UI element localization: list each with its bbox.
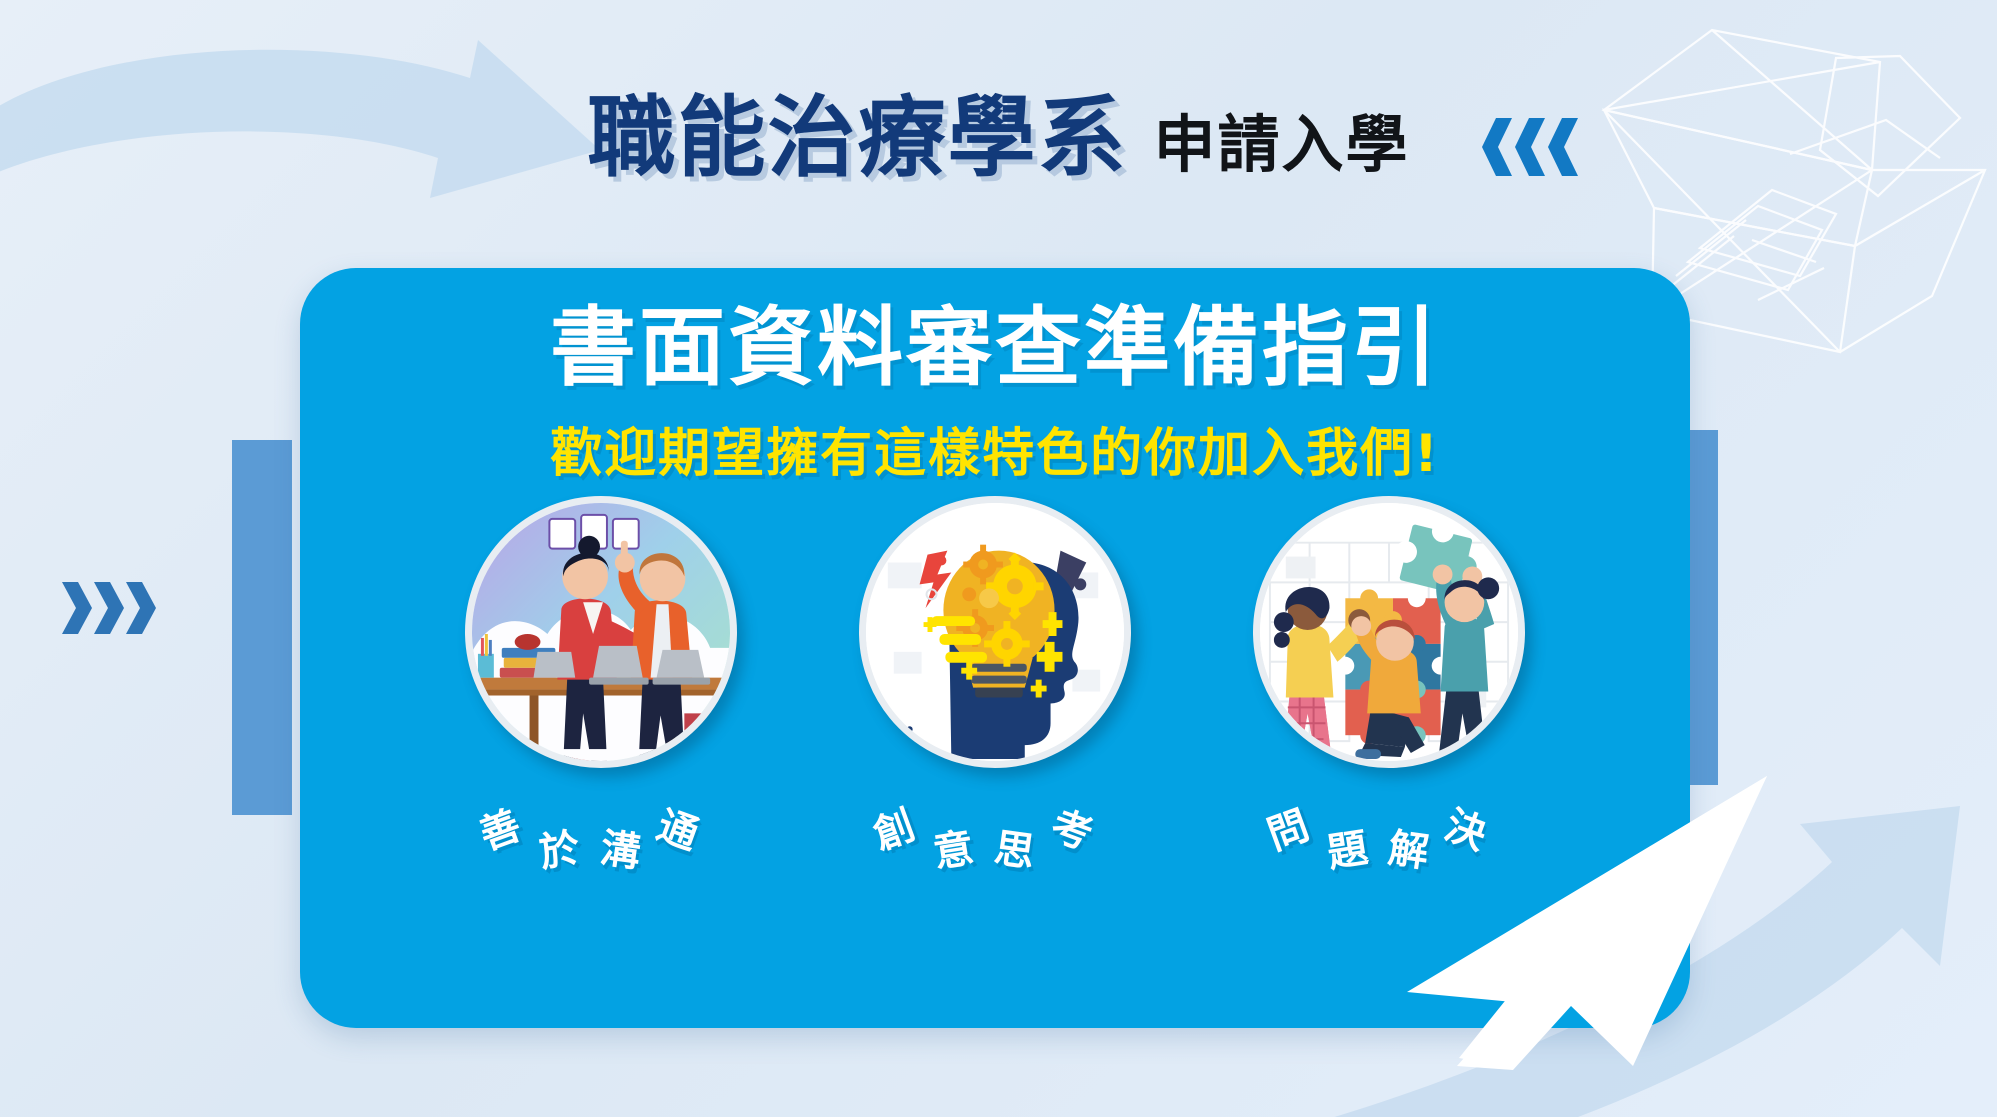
trait-item-communication[interactable]: 善 於 溝 通 — [461, 496, 741, 846]
chevrons-right-icon — [62, 582, 156, 634]
header: 職能治療學系 申請入學 — [0, 72, 1997, 182]
card-subtitle: 歡迎期望擁有這樣特色的你加入我們! — [300, 426, 1690, 483]
trait-label-communication: 善 於 溝 通 — [461, 776, 741, 846]
chevrons-left-icon — [1482, 118, 1578, 176]
head-with-lightbulb-and-gears-illustration — [859, 496, 1131, 768]
left-accent-bar — [232, 440, 292, 815]
trait-label-problem-solving: 問 題 解 決 — [1249, 776, 1529, 846]
trait-label-creativity: 創 意 思 考 — [855, 776, 1135, 846]
banner-canvas: 職能治療學系 申請入學 書面資料審查準備指引 歡迎期望擁有這樣特色的你加入我們! — [0, 0, 1997, 1117]
main-card: 書面資料審查準備指引 歡迎期望擁有這樣特色的你加入我們! — [300, 268, 1690, 1028]
trait-item-problem-solving[interactable]: 問 題 解 決 — [1249, 496, 1529, 846]
page-title: 職能治療學系 — [587, 94, 1127, 182]
people-assembling-jigsaw-puzzle-illustration — [1253, 496, 1525, 768]
trait-item-creativity[interactable]: 創 意 思 考 — [855, 496, 1135, 846]
two-people-discussing-at-desk-illustration — [465, 496, 737, 768]
card-title: 書面資料審查準備指引 — [300, 300, 1690, 396]
trait-list: 善 於 溝 通 — [300, 496, 1690, 846]
admission-type-label: 申請入學 — [1154, 114, 1410, 182]
